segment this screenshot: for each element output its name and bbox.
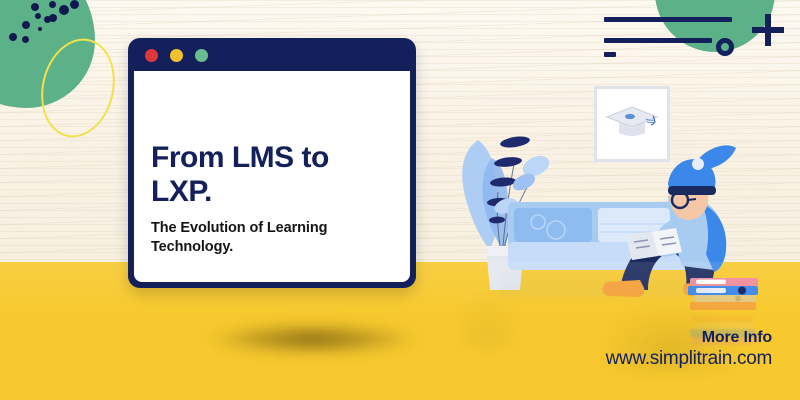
card-drop-shadow bbox=[205, 322, 420, 356]
decor-dot bbox=[59, 5, 69, 15]
window-content: From LMS to LXP. The Evolution of Learni… bbox=[134, 71, 410, 282]
maximize-dot-icon[interactable] bbox=[195, 49, 208, 62]
browser-window-card: From LMS to LXP. The Evolution of Learni… bbox=[128, 38, 416, 288]
plus-icon bbox=[752, 14, 784, 46]
decor-dash bbox=[604, 52, 616, 57]
decor-dot bbox=[22, 21, 30, 29]
decor-dot bbox=[35, 13, 41, 19]
decor-dot bbox=[49, 14, 57, 22]
couch-reflection bbox=[500, 266, 710, 296]
decor-dot bbox=[22, 36, 29, 43]
plant-reflection bbox=[452, 288, 522, 348]
window-title-bar bbox=[128, 38, 416, 71]
subheadline: The Evolution of Learning Technology. bbox=[151, 219, 391, 258]
decor-line bbox=[604, 38, 712, 43]
decor-dot bbox=[38, 27, 42, 31]
decor-dot bbox=[9, 33, 17, 41]
minimize-dot-icon[interactable] bbox=[170, 49, 183, 62]
circle-outline-icon bbox=[716, 38, 734, 56]
more-info-label: More Info bbox=[702, 329, 772, 347]
banner-canvas: From LMS to LXP. The Evolution of Learni… bbox=[0, 0, 800, 400]
decor-dot bbox=[70, 0, 79, 9]
close-dot-icon[interactable] bbox=[145, 49, 158, 62]
website-url[interactable]: www.simplitrain.com bbox=[606, 348, 772, 370]
decor-line bbox=[604, 17, 732, 22]
decor-dot bbox=[49, 1, 56, 8]
decor-dot bbox=[31, 3, 39, 11]
headline: From LMS to LXP. bbox=[151, 141, 397, 208]
